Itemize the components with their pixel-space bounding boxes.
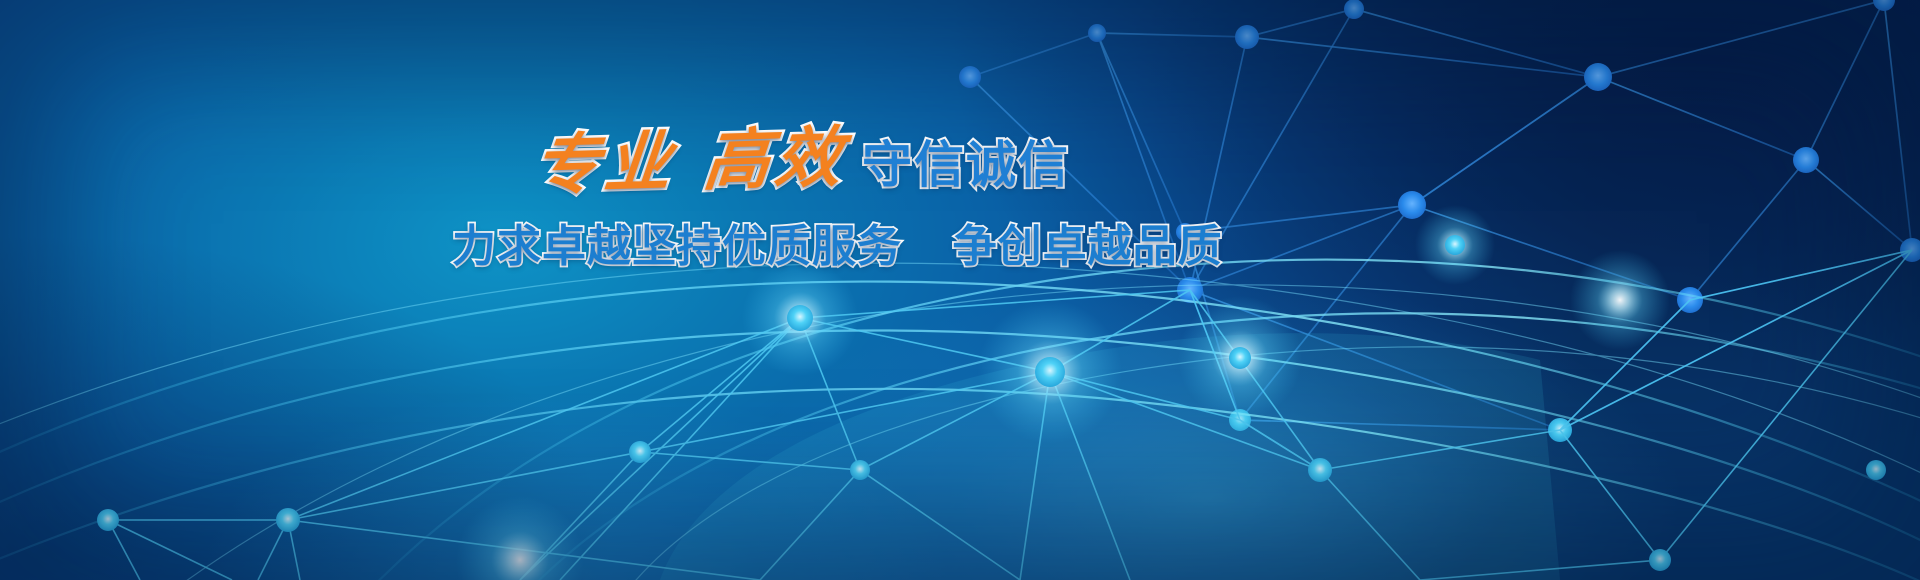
network-globe-arcs-graphic: [0, 0, 1920, 580]
subline-row: 力求卓越坚持优质服务 争创卓越品质: [452, 210, 1152, 274]
headline-plain-text: 守信诚信: [862, 140, 1070, 190]
subline-left-text: 力求卓越坚持优质服务: [452, 221, 902, 272]
hero-banner: 专业 高效 守信诚信 力求卓越坚持优质服务 争创卓越品质: [0, 0, 1920, 580]
headline-row: 专业 高效 守信诚信: [452, 128, 1152, 194]
subline-right-text: 争创卓越品质: [953, 221, 1223, 272]
slogan-text-block: 专业 高效 守信诚信 力求卓越坚持优质服务 争创卓越品质: [452, 128, 1152, 274]
headline-brush-text: 专业 高效: [530, 124, 849, 199]
